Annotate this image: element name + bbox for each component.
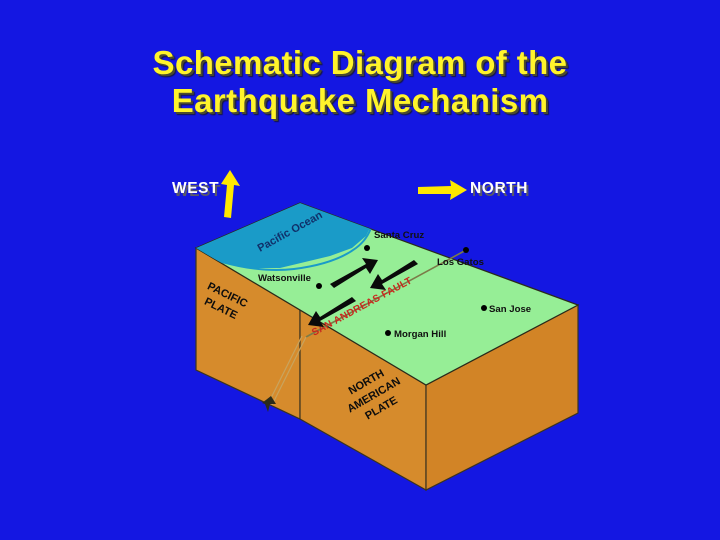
city-label-watsonville: Watsonville <box>258 273 311 284</box>
earthquake-block-diagram: Pacific Ocean SAN ANDREAS FAULT Santa Cr… <box>0 0 720 540</box>
city-label-morgan-hill: Morgan Hill <box>394 329 446 340</box>
city-label-santa-cruz: Santa Cruz <box>374 230 424 241</box>
city-label-san-jose: San Jose <box>489 304 531 315</box>
city-label-los-gatos: Los Gatos <box>437 257 484 268</box>
city-dot-santa-cruz <box>364 245 370 251</box>
slide-canvas: Schematic Diagram of the Earthquake Mech… <box>0 0 720 540</box>
city-dot-los-gatos <box>463 247 469 253</box>
city-dot-watsonville <box>316 283 322 289</box>
city-dot-morgan-hill <box>385 330 391 336</box>
city-dot-san-jose <box>481 305 487 311</box>
